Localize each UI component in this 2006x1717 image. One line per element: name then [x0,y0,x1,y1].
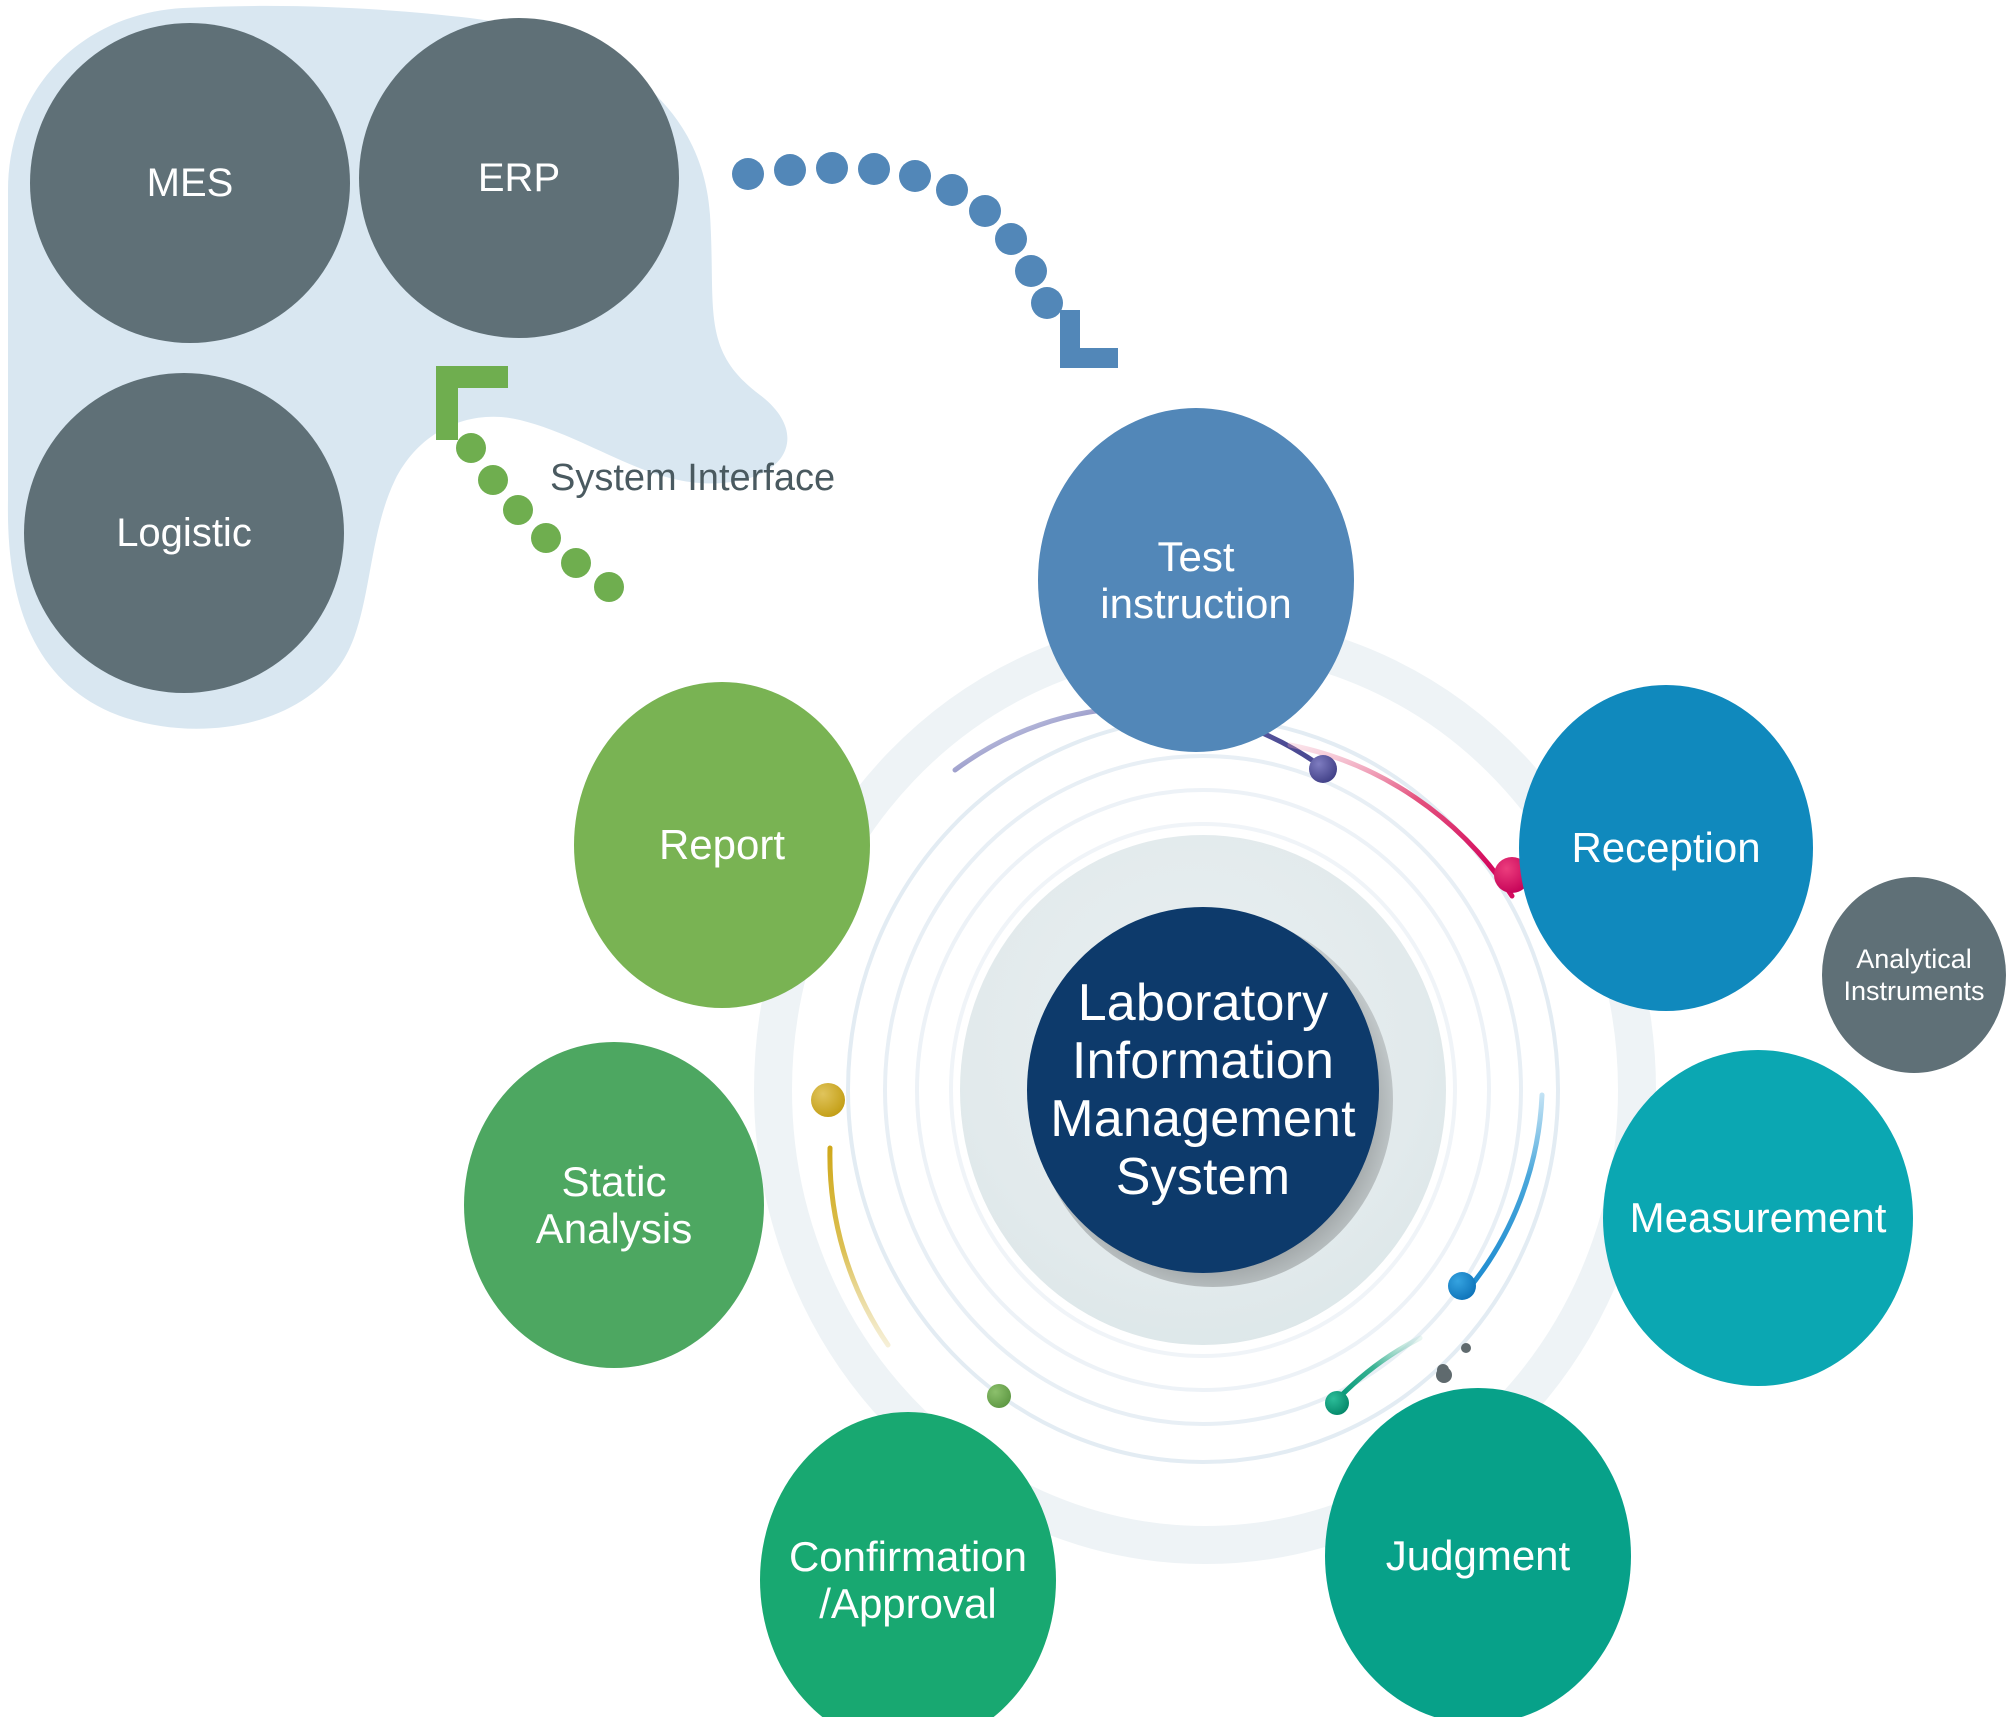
external-systems-group [8,6,787,729]
process-node-report-shape[interactable] [574,682,870,1008]
process-node-analytical-instruments-shape[interactable] [1822,877,2006,1073]
center-core-shape[interactable] [1027,907,1379,1273]
external-node-erp-shape[interactable] [359,18,679,338]
system-interface-label: System Interface [550,457,835,500]
center-core-group [960,835,1446,1345]
arrow-to-test-instruction [732,152,1118,368]
dot-grey-small-2 [1461,1343,1471,1353]
process-node-static-analysis-shape[interactable] [464,1042,764,1368]
process-node-reception-shape[interactable] [1519,685,1813,1011]
diagram-canvas [0,0,2006,1717]
process-node-test-instruction-shape[interactable] [1038,408,1354,752]
dot-gold [811,1083,845,1117]
process-node-confirmation-approval-shape[interactable] [760,1412,1056,1717]
dot-green [1325,1391,1349,1415]
dot-blue [1448,1272,1476,1300]
dot-purple [1309,755,1337,783]
arrowhead-blue [1060,310,1118,368]
external-node-logistic-shape[interactable] [24,373,344,693]
process-node-measurement-shape[interactable] [1603,1050,1913,1386]
lims-diagram: MES ERP Logistic System Interface Test i… [0,0,2006,1717]
dot-olive [987,1384,1011,1408]
dot-grey-small-3 [1437,1364,1449,1376]
external-node-mes-shape[interactable] [30,23,350,343]
process-node-judgment-shape[interactable] [1325,1388,1631,1717]
